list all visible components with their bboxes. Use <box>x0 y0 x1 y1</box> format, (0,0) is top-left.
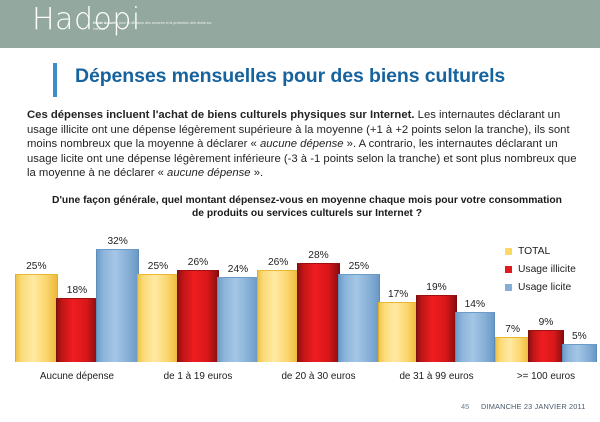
bar-slot: 5% <box>563 240 596 362</box>
bar-value-label: 17% <box>388 289 408 301</box>
bar-value-label: 28% <box>308 250 328 262</box>
bar-value-label: 25% <box>148 261 168 273</box>
x-axis-label: Aucune dépense <box>16 371 138 382</box>
bar-slot: 7% <box>496 240 529 362</box>
bar[interactable] <box>455 312 495 362</box>
bar[interactable] <box>257 270 299 362</box>
body-text-3: ». <box>251 167 264 179</box>
bar-slot: 14% <box>456 240 494 362</box>
bar-value-label: 26% <box>268 257 288 269</box>
body-lead: Ces dépenses incluent l'achat de biens c… <box>27 109 415 121</box>
bar-slot: 25% <box>16 240 57 362</box>
bar-value-label: 26% <box>188 257 208 269</box>
title-row: Dépenses mensuelles pour des biens cultu… <box>0 63 600 99</box>
bar[interactable] <box>297 263 339 362</box>
bar-group: 25%26%24%de 1 à 19 euros <box>138 240 258 362</box>
bar[interactable] <box>137 274 179 362</box>
body-italic-2: aucune dépense <box>167 167 251 179</box>
bar-slot: 17% <box>379 240 417 362</box>
page-title: Dépenses mensuelles pour des biens cultu… <box>75 65 505 88</box>
bar-chart: 25%18%32%Aucune dépense25%26%24%de 1 à 1… <box>0 240 600 385</box>
footer-date: DIMANCHE 23 JANVIER 2011 <box>481 402 586 411</box>
bar[interactable] <box>56 298 99 362</box>
x-axis-label: de 1 à 19 euros <box>138 371 258 382</box>
x-axis-label: de 31 à 99 euros <box>379 371 494 382</box>
bar-slot: 25% <box>339 240 379 362</box>
bar[interactable] <box>378 302 418 362</box>
x-axis-label: >= 100 euros <box>496 371 596 382</box>
footer: 45 DIMANCHE 23 JANVIER 2011 <box>0 402 600 416</box>
bar[interactable] <box>177 270 219 362</box>
bar-group: 17%19%14%de 31 à 99 euros <box>379 240 494 362</box>
bar[interactable] <box>338 274 380 362</box>
bar-value-label: 25% <box>26 261 46 273</box>
bar-slot: 26% <box>258 240 298 362</box>
bar[interactable] <box>495 337 530 362</box>
bar-value-label: 32% <box>107 236 127 248</box>
bar-slot: 32% <box>97 240 138 362</box>
bar-group-bars: 25%18%32% <box>16 240 138 362</box>
bar-group-bars: 17%19%14% <box>379 240 494 362</box>
footer-page-number: 45 <box>461 402 469 411</box>
bar-group: 7%9%5%>= 100 euros <box>496 240 596 362</box>
bar-group-bars: 7%9%5% <box>496 240 596 362</box>
bar[interactable] <box>15 274 58 362</box>
bar-slot: 25% <box>138 240 178 362</box>
bar-slot: 19% <box>417 240 455 362</box>
title-accent-bar <box>53 63 57 97</box>
bar-group-bars: 26%28%25% <box>258 240 379 362</box>
bar-value-label: 19% <box>426 282 446 294</box>
bar-slot: 28% <box>298 240 338 362</box>
bar-value-label: 9% <box>539 317 554 329</box>
hadopi-tagline: Haute Autorité pour la diffusion des oeu… <box>93 21 213 32</box>
bar-value-label: 18% <box>67 285 87 297</box>
bar[interactable] <box>528 330 563 362</box>
bar[interactable] <box>562 344 597 362</box>
bar-group-bars: 25%26%24% <box>138 240 258 362</box>
bar[interactable] <box>96 249 139 362</box>
bar-slot: 18% <box>57 240 98 362</box>
bar-value-label: 7% <box>505 324 520 336</box>
body-paragraph: Ces dépenses incluent l'achat de biens c… <box>27 108 580 181</box>
bar-slot: 9% <box>529 240 562 362</box>
bar-group: 25%18%32%Aucune dépense <box>16 240 138 362</box>
bar[interactable] <box>217 277 259 362</box>
survey-question: D'une façon générale, quel montant dépen… <box>47 194 567 221</box>
bar-value-label: 14% <box>465 299 485 311</box>
x-axis-label: de 20 à 30 euros <box>258 371 379 382</box>
bar[interactable] <box>416 295 456 362</box>
body-italic-1: aucune dépense <box>260 138 344 150</box>
bar-value-label: 24% <box>228 264 248 276</box>
bar-value-label: 5% <box>572 331 587 343</box>
tagline-strong: Haute Autorité <box>93 21 118 25</box>
header-band: Hadopi Haute Autorité pour la diffusion … <box>0 0 600 48</box>
bar-slot: 24% <box>218 240 258 362</box>
bar-value-label: 25% <box>349 261 369 273</box>
bar-group: 26%28%25%de 20 à 30 euros <box>258 240 379 362</box>
bar-slot: 26% <box>178 240 218 362</box>
